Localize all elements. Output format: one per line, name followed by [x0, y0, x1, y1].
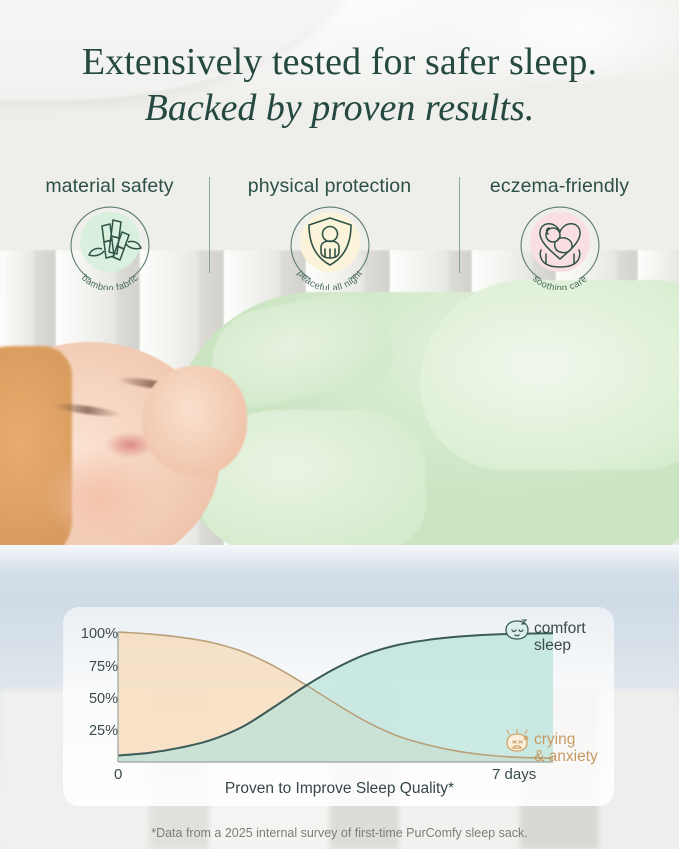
badge-mark: peaceful all night [278, 202, 382, 290]
badge-eczema-friendly: eczema-friendly [452, 175, 667, 290]
badge-caption: soothing care [530, 273, 588, 290]
headline-line-1: Extensively tested for safer sleep. [0, 42, 679, 82]
feature-badges: material safety [0, 175, 679, 295]
badge-material-safety: material safety [2, 175, 217, 290]
badge-physical-protection: physical protection [222, 175, 437, 290]
svg-text:bamboo fabric: bamboo fabric [79, 272, 140, 290]
badge-caption: bamboo fabric [79, 272, 140, 290]
badge-mark: soothing care [508, 202, 612, 290]
badge-mark: bamboo fabric [58, 202, 162, 290]
badge-label: eczema-friendly [452, 175, 667, 198]
sleeping-baby [0, 280, 679, 580]
badge-label: material safety [2, 175, 217, 198]
promo-graphic: Extensively tested for safer sleep. Back… [0, 0, 679, 849]
headline-line-2: Backed by proven results. [0, 88, 679, 128]
svg-text:soothing care: soothing care [530, 273, 588, 290]
headline: Extensively tested for safer sleep. Back… [0, 42, 679, 129]
bamboo-icon: bamboo fabric [58, 202, 162, 290]
footnote: *Data from a 2025 internal survey of fir… [0, 826, 679, 840]
baby-hand [142, 366, 247, 476]
sleep-sack-lower [420, 280, 679, 470]
baby-cheek [40, 450, 160, 545]
chart-card [63, 607, 614, 806]
heart-hands-baby-icon: soothing care [508, 202, 612, 290]
shield-baby-icon: peaceful all night [278, 202, 382, 290]
badge-label: physical protection [222, 175, 437, 198]
